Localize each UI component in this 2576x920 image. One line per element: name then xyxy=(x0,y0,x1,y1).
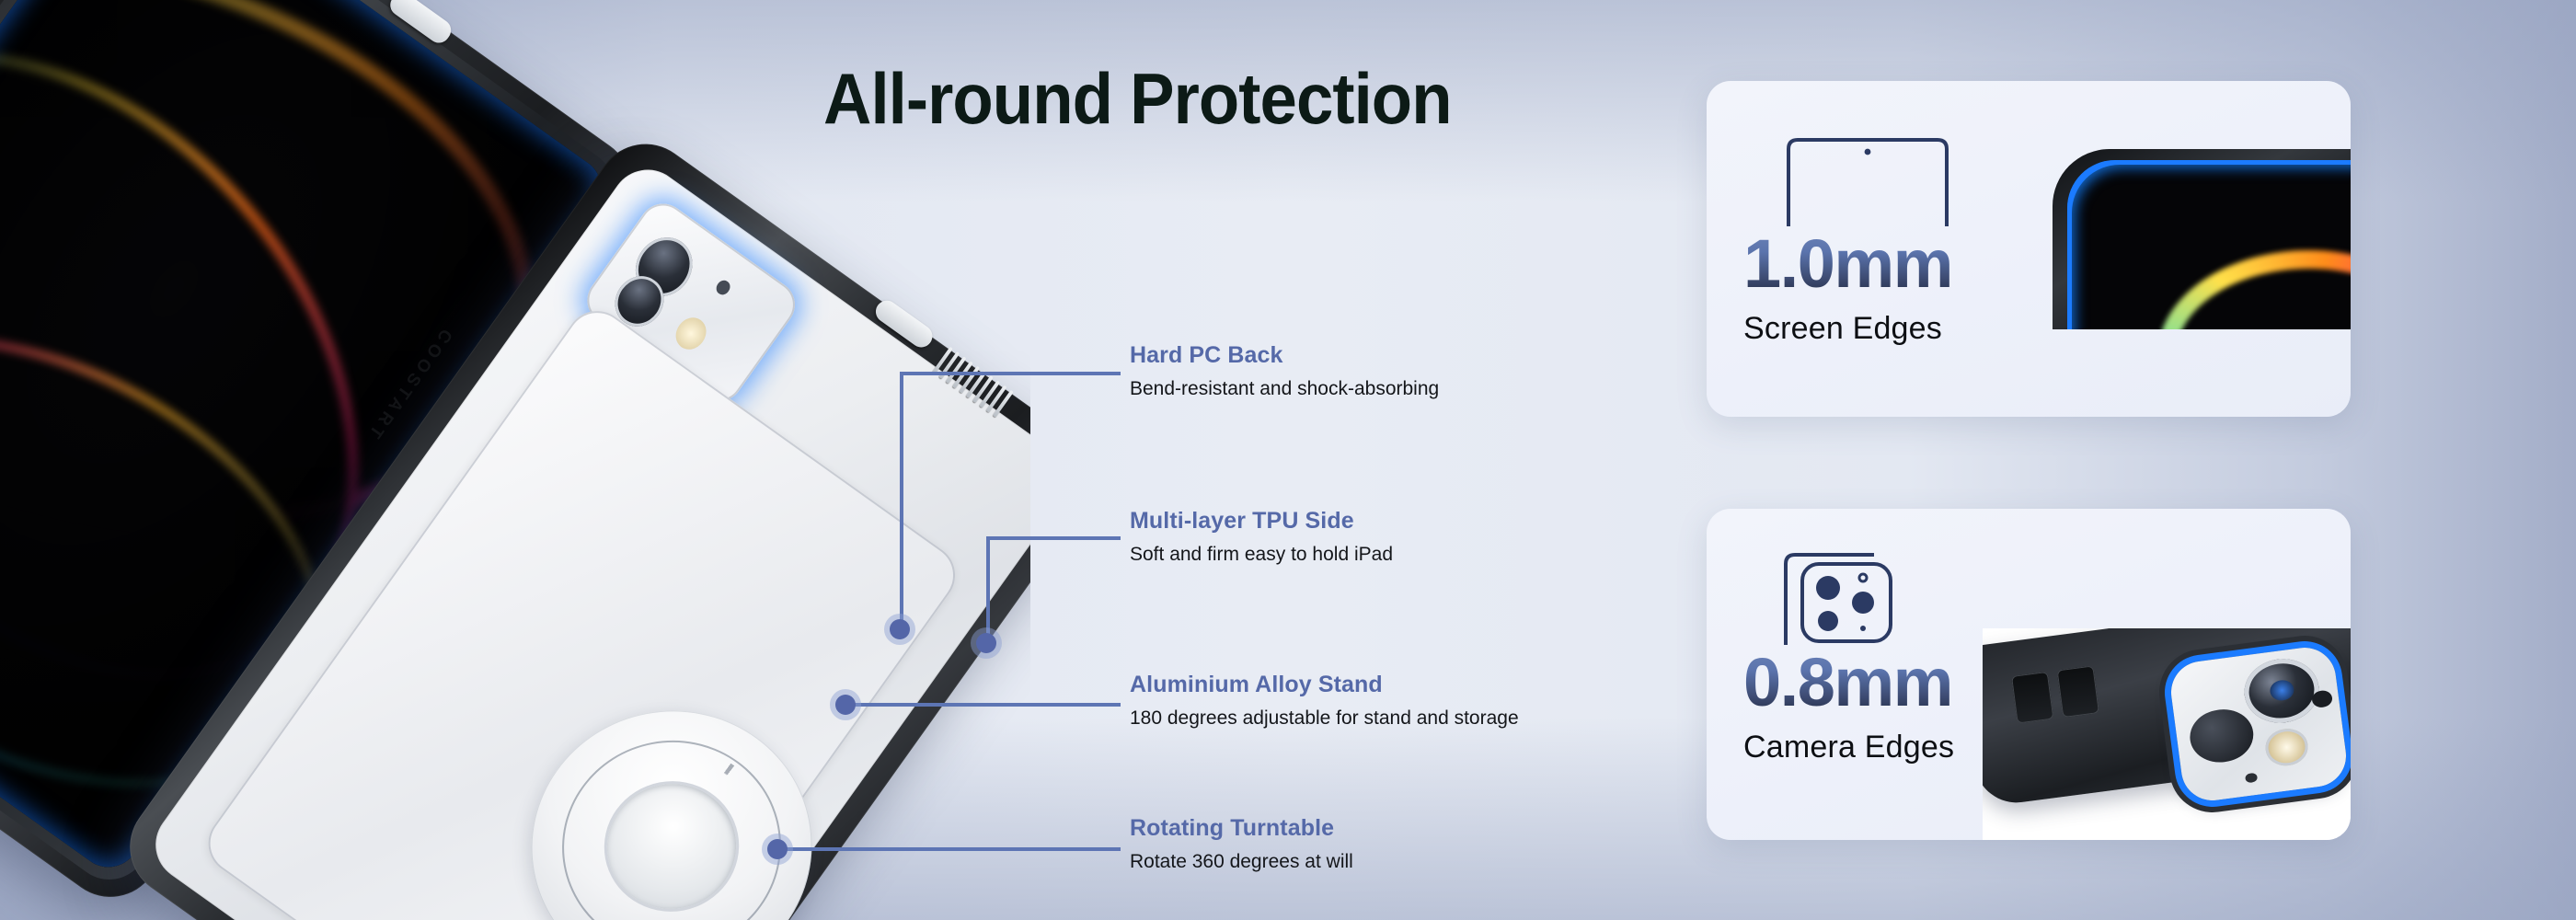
card-text-block: 0.8mm Camera Edges xyxy=(1743,557,1954,765)
card-camera-edges: 0.8mm Camera Edges xyxy=(1707,509,2351,840)
connector-dot-turntable xyxy=(767,839,788,859)
camera-cutout-photo xyxy=(1983,628,2351,840)
card-value: 0.8mm xyxy=(1743,649,1954,717)
connector-dot-alloy-stand xyxy=(835,695,856,715)
promo-banner: COOSTART All-round Protection xyxy=(0,0,2576,920)
screen-corner-photo xyxy=(2047,149,2351,329)
cutout-sensor-small xyxy=(2245,772,2258,783)
cutout-lens-primary xyxy=(2241,655,2323,727)
feature-aluminium-alloy-stand: Aluminium Alloy Stand 180 degrees adjust… xyxy=(1130,672,1519,732)
feature-title: Rotating Turntable xyxy=(1130,815,1353,842)
card-value: 1.0mm xyxy=(1743,230,1952,298)
camera-flash xyxy=(670,312,712,355)
feature-hard-pc-back: Hard PC Back Bend-resistant and shock-ab… xyxy=(1130,342,1439,403)
feature-desc: Rotate 360 degrees at will xyxy=(1130,848,1353,876)
connector-dot-tpu-side xyxy=(976,633,996,653)
camera-cutout-island xyxy=(2168,644,2350,804)
feature-rotating-turntable: Rotating Turntable Rotate 360 degrees at… xyxy=(1130,815,1353,876)
feature-desc: Soft and firm easy to hold iPad xyxy=(1130,541,1393,569)
card-label: Screen Edges xyxy=(1743,311,1952,347)
feature-title: Multi-layer TPU Side xyxy=(1130,508,1393,535)
card-label: Camera Edges xyxy=(1743,730,1954,765)
card-screen-edges: 1.0mm Screen Edges xyxy=(1707,81,2351,417)
feature-desc: Bend-resistant and shock-absorbing xyxy=(1130,375,1439,403)
page-title: All-round Protection xyxy=(823,57,1452,141)
feature-desc: 180 degrees adjustable for stand and sto… xyxy=(1130,705,1519,732)
card-text-block: 1.0mm Screen Edges xyxy=(1743,129,1952,347)
feature-title: Hard PC Back xyxy=(1130,342,1439,369)
connector-dot-hard-pc-back xyxy=(890,619,910,639)
cutout-flash xyxy=(2263,726,2311,767)
cutout-lens-secondary xyxy=(2187,706,2256,766)
feature-multi-layer-tpu-side: Multi-layer TPU Side Soft and firm easy … xyxy=(1130,508,1393,569)
feature-title: Aluminium Alloy Stand xyxy=(1130,672,1519,698)
camera-mic xyxy=(713,278,732,297)
